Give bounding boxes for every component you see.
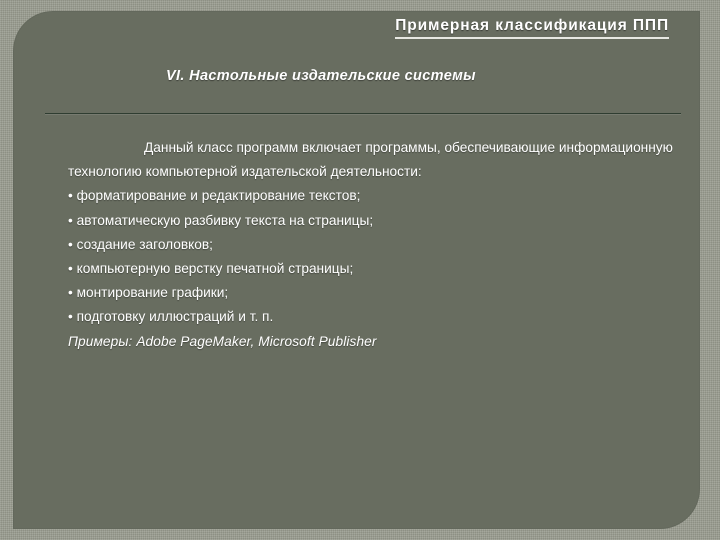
- slide-subtitle: VI. Настольные издательские системы: [166, 68, 476, 84]
- header-divider: [45, 113, 681, 114]
- body-bullet-item: • монтирование графики;: [68, 281, 683, 305]
- slide-body: Данный класс программ включает программы…: [68, 136, 683, 354]
- body-bullet-item: • форматирование и редактирование тексто…: [68, 184, 683, 208]
- body-bullet-item: • подготовку иллюстраций и т. п.: [68, 305, 683, 329]
- slide-content-panel: Примерная классификация ППП VI. Настольн…: [13, 11, 700, 529]
- body-examples-line: Примеры: Adobe PageMaker, Microsoft Publ…: [68, 330, 683, 354]
- slide-title: Примерная классификация ППП: [395, 17, 669, 39]
- body-intro-paragraph: Данный класс программ включает программы…: [68, 136, 683, 184]
- body-bullet-item: • автоматическую разбивку текста на стра…: [68, 209, 683, 233]
- body-bullet-item: • компьютерную верстку печатной страницы…: [68, 257, 683, 281]
- slide-canvas: Примерная классификация ППП VI. Настольн…: [0, 0, 720, 540]
- slide-title-underline: [395, 37, 669, 39]
- body-bullet-item: • создание заголовков;: [68, 233, 683, 257]
- slide-title-text: Примерная классификация ППП: [395, 17, 669, 34]
